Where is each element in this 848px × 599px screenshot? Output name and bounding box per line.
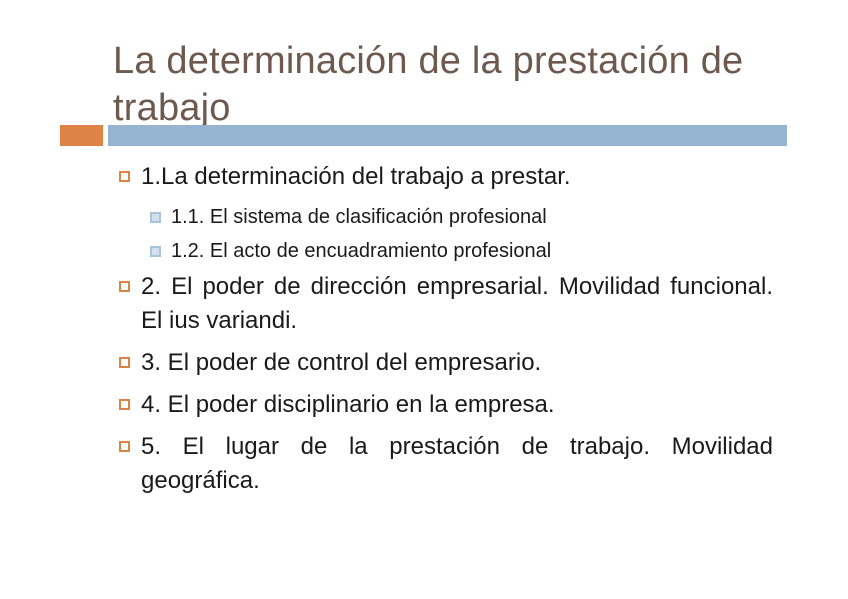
- list-item-label: 1.2. El acto de encuadramiento profesion…: [171, 236, 773, 267]
- page-title: La determinación de la prestación de tra…: [113, 38, 773, 132]
- title-divider: [60, 125, 787, 146]
- square-bullet-icon: [119, 171, 130, 182]
- content-list: 1.La determinación del trabajo a prestar…: [113, 160, 773, 506]
- square-bullet-icon: [150, 246, 161, 257]
- square-bullet-icon: [119, 281, 130, 292]
- square-bullet-icon: [119, 399, 130, 410]
- divider-bar: [108, 125, 787, 146]
- list-item: 5. El lugar de la prestación de trabajo.…: [113, 430, 773, 498]
- list-item-label: 2. El poder de dirección empresarial. Mo…: [141, 270, 773, 338]
- list-item-label: 1.La determinación del trabajo a prestar…: [141, 160, 773, 194]
- square-bullet-icon: [150, 212, 161, 223]
- slide-canvas: La determinación de la prestación de tra…: [0, 0, 848, 599]
- list-item-label: 1.1. El sistema de clasificación profesi…: [171, 202, 773, 233]
- divider-accent-block: [60, 125, 103, 146]
- square-bullet-icon: [119, 357, 130, 368]
- list-item: 4. El poder disciplinario en la empresa.: [113, 388, 773, 422]
- title-block: La determinación de la prestación de tra…: [113, 38, 773, 132]
- list-item: 1.1. El sistema de clasificación profesi…: [113, 202, 773, 233]
- list-item: 2. El poder de dirección empresarial. Mo…: [113, 270, 773, 338]
- list-item: 3. El poder de control del empresario.: [113, 346, 773, 380]
- list-item: 1.2. El acto de encuadramiento profesion…: [113, 236, 773, 267]
- square-bullet-icon: [119, 441, 130, 452]
- list-item-label: 5. El lugar de la prestación de trabajo.…: [141, 430, 773, 498]
- list-item-label: 3. El poder de control del empresario.: [141, 346, 773, 380]
- list-item-label: 4. El poder disciplinario en la empresa.: [141, 388, 773, 422]
- list-item: 1.La determinación del trabajo a prestar…: [113, 160, 773, 194]
